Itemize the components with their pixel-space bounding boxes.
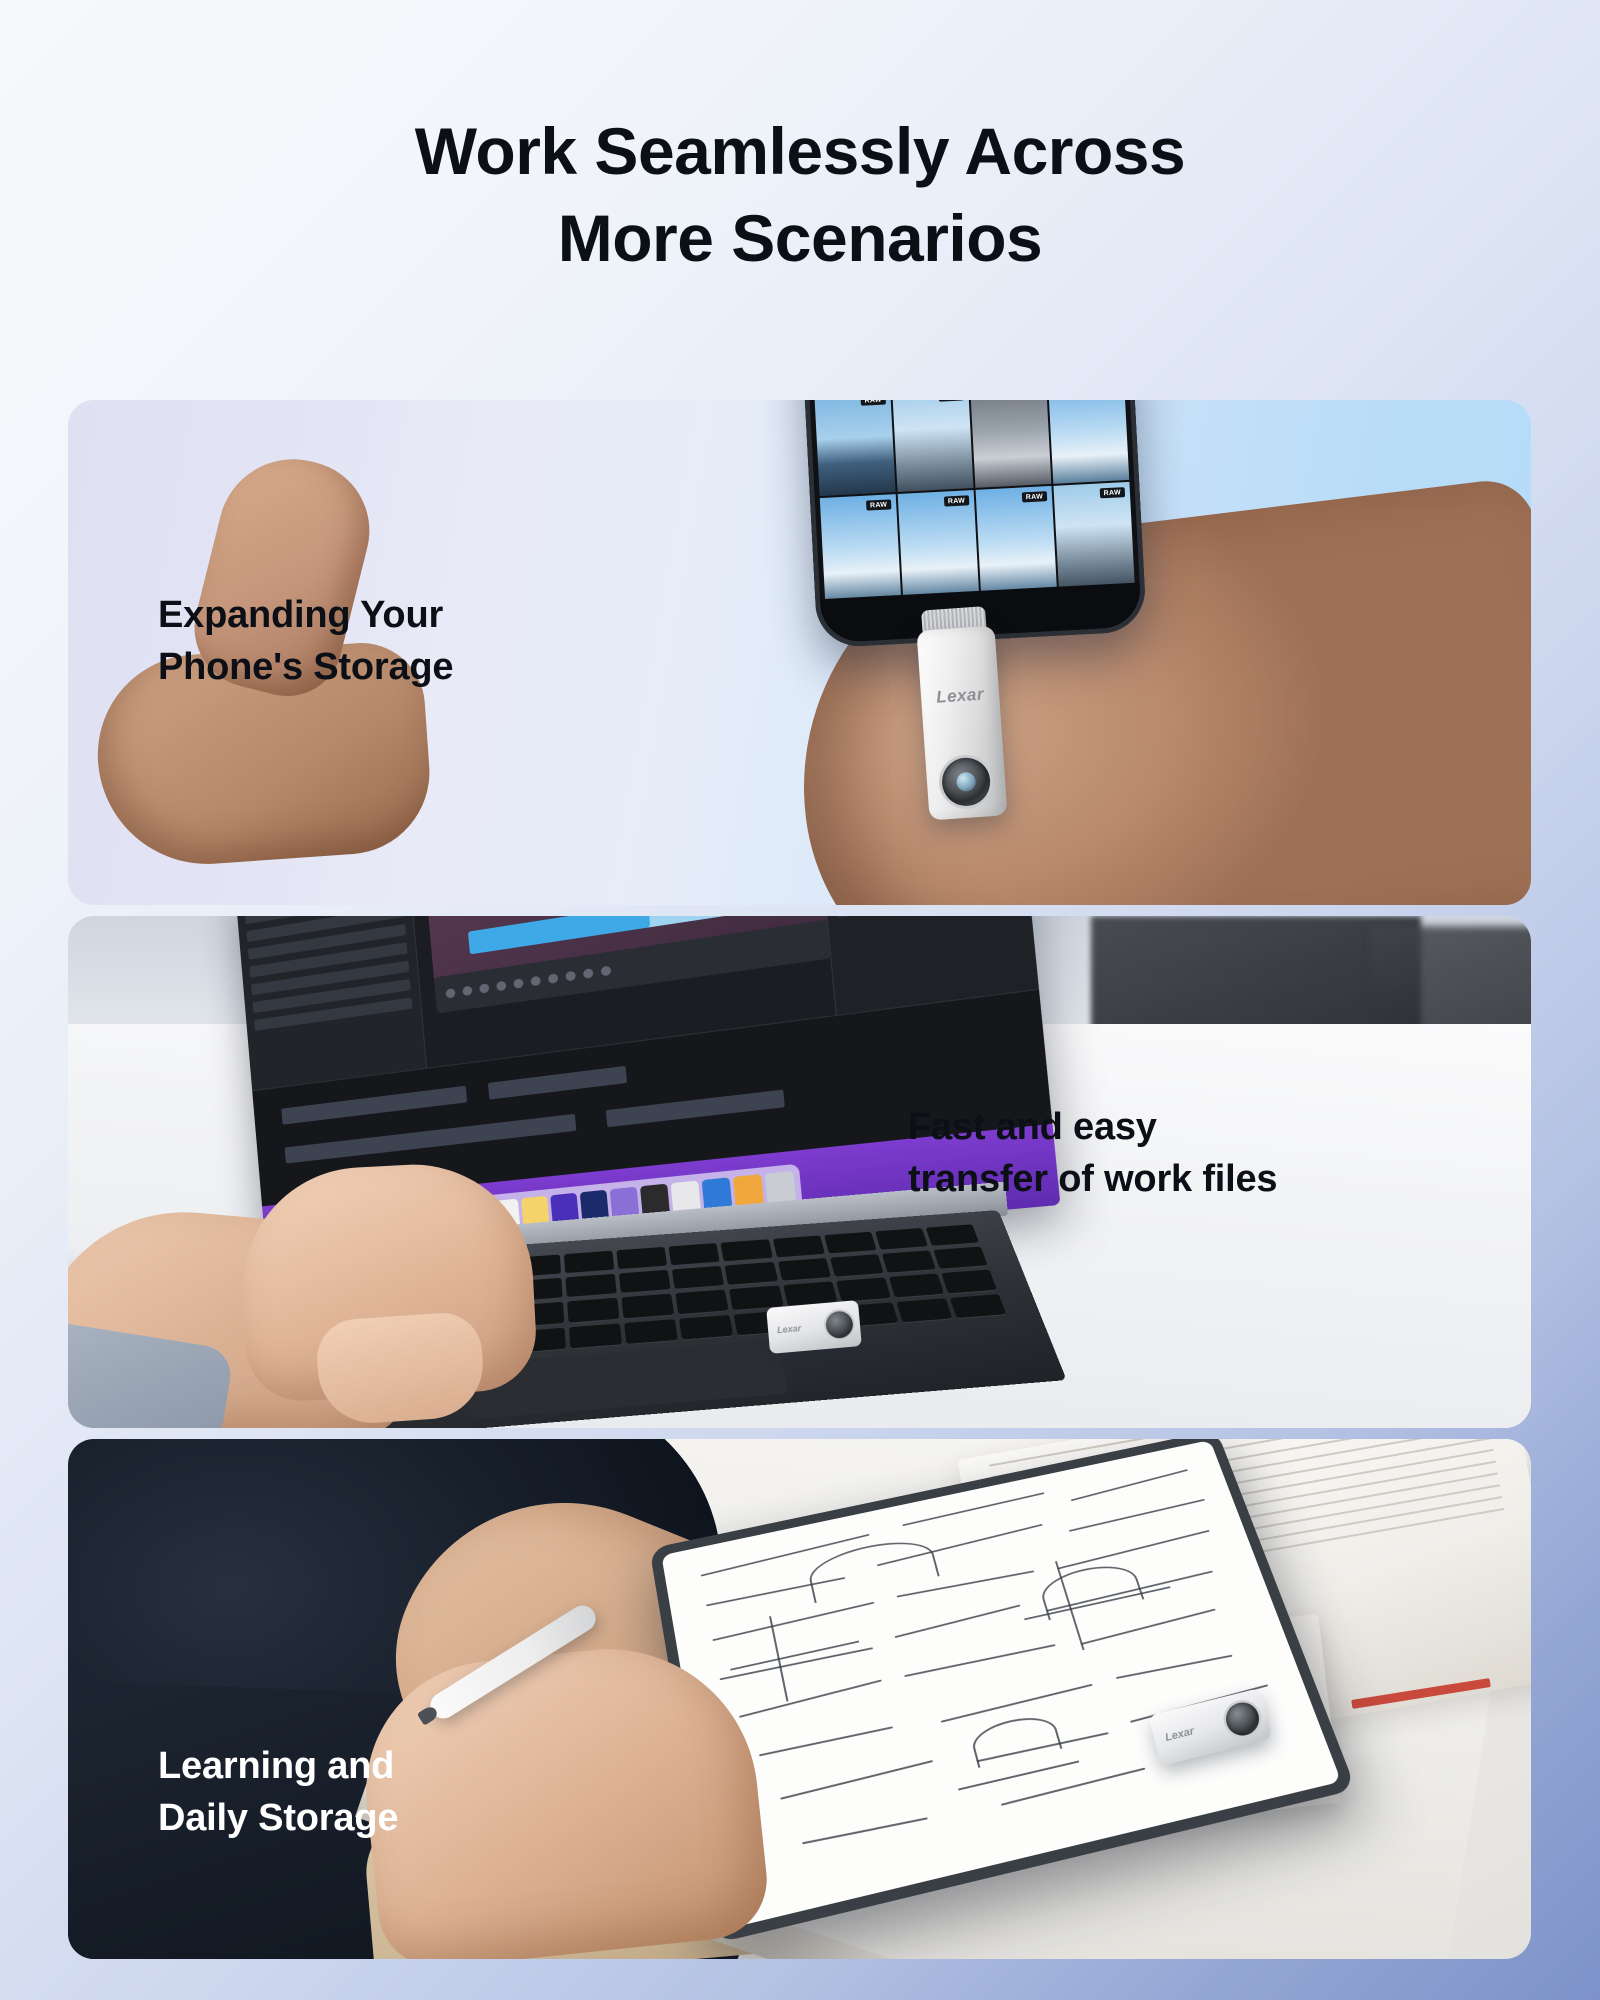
raw-badge: RAW <box>1099 487 1125 498</box>
scenario-card-list: RAW RAW RAW RAW RAW RAW RAW RAW RAW RAW … <box>68 400 1531 1970</box>
editor-project-panel <box>235 916 427 1090</box>
scenario-card-learning-daily-storage: Lexar Learning and Daily Storage <box>68 1439 1531 1959</box>
page-title: Work Seamlessly Across More Scenarios <box>0 108 1600 282</box>
card-3-caption: Learning and Daily Storage <box>158 1741 398 1844</box>
scenario-card-expanding-phone-storage: RAW RAW RAW RAW RAW RAW RAW RAW RAW RAW … <box>68 400 1531 905</box>
photo-grid: RAW RAW RAW RAW RAW RAW RAW RAW RAW RAW … <box>809 400 1135 601</box>
page-title-line-1: Work Seamlessly Across <box>0 108 1600 195</box>
usb-drive-image: Lexar <box>766 1300 862 1354</box>
raw-badge: RAW <box>944 495 970 506</box>
raw-badge: RAW <box>866 499 892 510</box>
card-2-caption: Fast and easy transfer of work files <box>908 1102 1277 1205</box>
page-title-line-2: More Scenarios <box>0 195 1600 282</box>
usb-drive-image: Lexar <box>916 626 1007 821</box>
raw-badge: RAW <box>938 400 964 402</box>
raw-badge: RAW <box>1022 491 1048 502</box>
card-1-caption: Expanding Your Phone's Storage <box>158 590 453 693</box>
scenario-card-work-file-transfer: Lexar Fast and easy transfer of work fil… <box>68 916 1531 1428</box>
lexar-logo: Lexar <box>777 1323 802 1335</box>
raw-badge: RAW <box>860 400 886 406</box>
